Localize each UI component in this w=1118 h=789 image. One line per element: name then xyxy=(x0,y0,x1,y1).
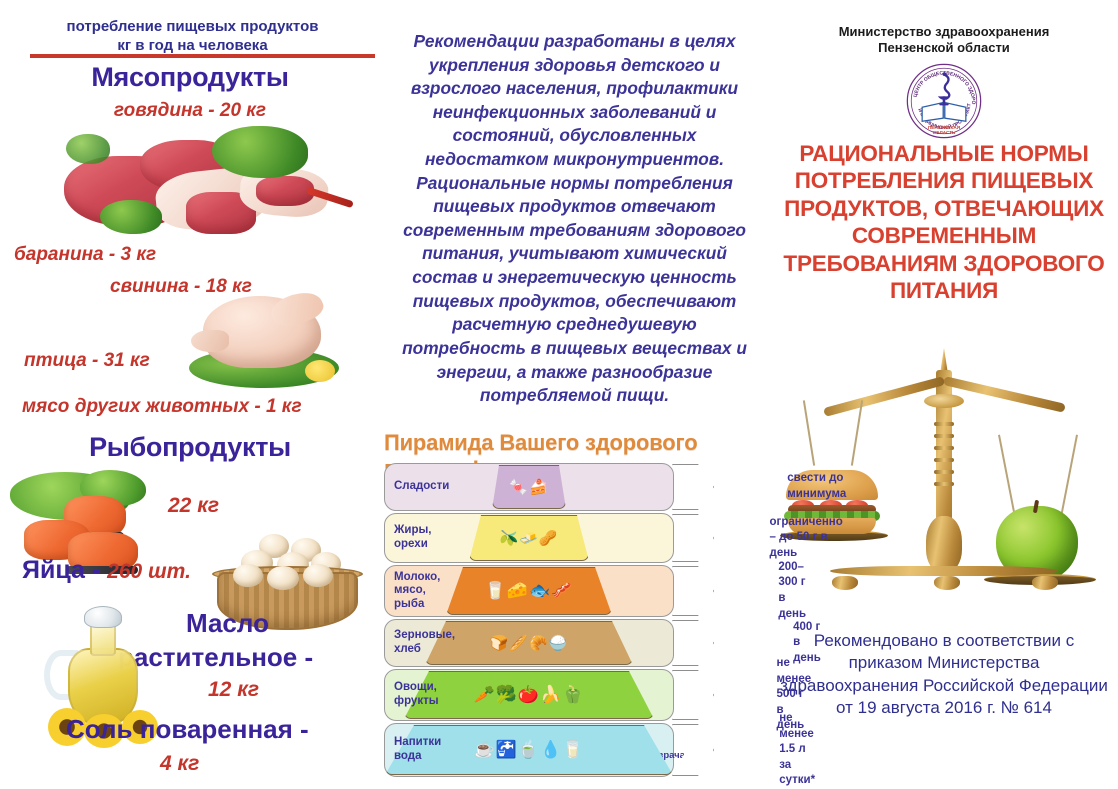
intro-paragraph: Рекомендации разработаны в целях укрепле… xyxy=(392,30,757,408)
pyramid-tier-food-icons: 🥕🥦🍅🍌🫑 xyxy=(474,685,585,705)
oil-heading-line1: Масло xyxy=(186,608,269,639)
pyramid-tier-food-icons: ☕🚰🍵💧🥛 xyxy=(474,740,585,760)
pyramid-tier: 🫒🧈🥜 xyxy=(469,515,589,561)
pyramid-row: Сладости🍬🍰свести до минимума xyxy=(384,463,769,511)
pyramid-tier: 🍞🥖🥐🍚 xyxy=(425,621,633,665)
pyramid-row-label: Сладости xyxy=(384,480,449,494)
pyramid-row-label: Напитки вода xyxy=(384,736,441,763)
chicken-image xyxy=(185,290,360,395)
pyramid-row-note: не менее 1.5 л за сутки* xyxy=(779,711,815,789)
pyramid-row-note: свести до минимума xyxy=(787,471,846,502)
consumption-header: потребление пищевых продуктов кг в год н… xyxy=(20,18,365,56)
pyramid-row: Жиры, орехи🫒🧈🥜ограниченно – до 50 г в де… xyxy=(384,513,769,563)
middle-column: Рекомендации разработаны в целях укрепле… xyxy=(380,0,770,789)
pyramid-row: Зерновые, хлеб🍞🥖🥐🍚400 г в день xyxy=(384,619,769,667)
pyramid-row-label: Молоко, мясо, рыба xyxy=(384,571,440,612)
svg-text:ОБЛАСТЬ: ОБЛАСТЬ xyxy=(933,130,956,135)
ministry-header: Министерство здравоохранения Пензенской … xyxy=(780,24,1108,56)
pyramid-arrow-icon xyxy=(672,514,714,562)
poultry-value: птица - 31 кг xyxy=(24,350,150,372)
pyramid-arrow-icon xyxy=(672,620,714,666)
pyramid-arrow-icon xyxy=(672,670,714,720)
pyramid-row: Овощи, фрукты🥕🥦🍅🍌🫑не менее 500 г в день xyxy=(384,669,769,721)
header-divider xyxy=(30,54,375,58)
fish-products-heading: Рыбопродукты xyxy=(0,432,380,463)
ministry-line2: Пензенской области xyxy=(780,40,1108,56)
pyramid-row-label: Зерновые, хлеб xyxy=(384,629,455,656)
right-column: Министерство здравоохранения Пензенской … xyxy=(770,0,1118,789)
salt-value: 4 кг xyxy=(160,752,199,776)
pyramid-tier-food-icons: 🍞🥖🥐🍚 xyxy=(490,634,569,652)
pyramid-row-note: ограниченно – до 50 г в день xyxy=(770,515,843,562)
food-pyramid-diagram: Пирамида Вашего здорового питания! Сладо… xyxy=(380,430,770,775)
left-column: потребление пищевых продуктов кг в год н… xyxy=(0,0,380,789)
pyramid-arrow-icon xyxy=(672,464,714,510)
pyramid-row: Молоко, мясо, рыба🥛🧀🐟🥓200–300 г в день xyxy=(384,565,769,617)
meat-platter-image xyxy=(60,122,360,242)
eggs-row: Яйца - 260 шт. xyxy=(22,556,191,585)
pyramid-tier-food-icons: 🫒🧈🥜 xyxy=(499,529,558,547)
order-reference-footer: Рекомендовано в соответствии с приказом … xyxy=(780,630,1108,720)
pyramid-arrow-icon xyxy=(672,566,714,616)
ministry-line1: Министерство здравоохранения xyxy=(780,24,1108,40)
pyramid-row-label: Овощи, фрукты xyxy=(384,681,439,708)
pyramid-rows: Сладости🍬🍰свести до минимумаЖиры, орехи🫒… xyxy=(384,463,769,779)
pyramid-tier-food-icons: 🥛🧀🐟🥓 xyxy=(485,581,574,601)
pyramid-row-label: Жиры, орехи xyxy=(384,524,432,551)
consumption-header-line1: потребление пищевых продуктов xyxy=(20,18,365,37)
brochure-page: потребление пищевых продуктов кг в год н… xyxy=(0,0,1118,789)
pyramid-tier: 🥛🧀🐟🥓 xyxy=(446,567,612,615)
salt-heading: Соль поваренная - xyxy=(66,714,309,745)
oil-value: 12 кг xyxy=(208,678,259,702)
other-meat-value: мясо других животных - 1 кг xyxy=(22,396,302,418)
pyramid-tier: 🍬🍰 xyxy=(492,465,566,509)
mutton-value: баранина - 3 кг xyxy=(14,244,156,266)
eggs-label: Яйца - xyxy=(22,556,107,584)
consumption-header-line2: кг в год на человека xyxy=(20,37,365,56)
eggs-value: 260 шт. xyxy=(107,560,191,583)
fish-value: 22 кг xyxy=(168,494,219,518)
ministry-health-penza-emblem-icon: ЦЕНТР ОБЩЕСТВЕННОГО ЗДОРОВЬЯ И МЕДИЦИНСК… xyxy=(905,62,983,140)
pyramid-row: Напитки вода☕🚰🍵💧🥛не менее 1.5 л за сутки… xyxy=(384,723,769,777)
brochure-title: РАЦИОНАЛЬНЫЕ НОРМЫ ПОТРЕБЛЕНИЯ ПИЩЕВЫХ П… xyxy=(778,140,1110,305)
pyramid-tier-food-icons: 🍬🍰 xyxy=(509,478,548,496)
beef-value: говядина - 20 кг xyxy=(0,100,380,122)
pyramid-tier: 🥕🥦🍅🍌🫑 xyxy=(404,671,654,719)
meat-products-heading: Мясопродукты xyxy=(0,62,380,93)
pyramid-row-note: 200–300 г в день xyxy=(778,560,806,622)
